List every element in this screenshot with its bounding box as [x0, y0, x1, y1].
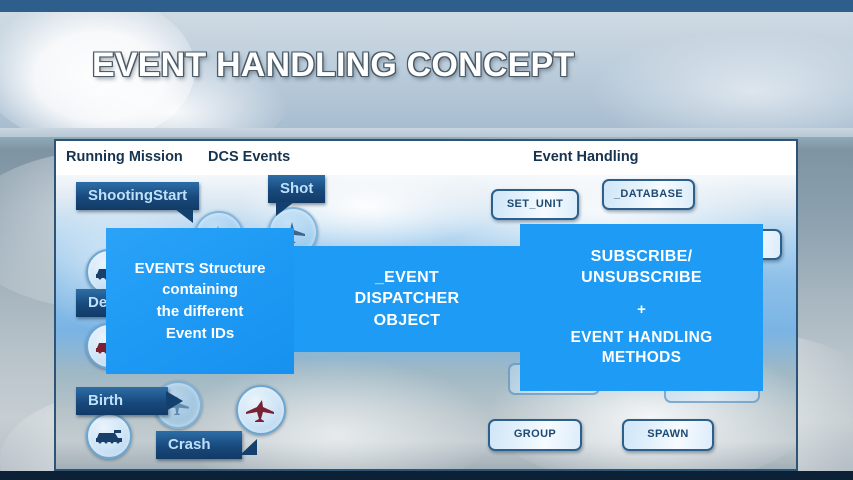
- event-tag-crash[interactable]: Crash: [156, 431, 242, 459]
- overlay-line: EVENTS Structure: [135, 258, 266, 280]
- class-box-label: _DATABASE: [614, 188, 683, 202]
- header-running-mission: Running Mission: [66, 149, 183, 165]
- overlay-line: Event IDs: [166, 323, 234, 345]
- overlay-line: OBJECT: [374, 310, 441, 332]
- slide-root: EVENT HANDLING CONCEPT Running Mission D…: [0, 0, 853, 480]
- class-box-set-unit[interactable]: SET_UNIT: [491, 189, 579, 220]
- overlay-event-dispatcher: _EVENT DISPATCHER OBJECT: [294, 246, 520, 352]
- event-tag-label: Birth: [88, 392, 123, 409]
- unit-icon-vehicle-3: [86, 413, 132, 459]
- overlay-plus-symbol: +: [637, 301, 646, 318]
- event-tag-shootingstart[interactable]: ShootingStart: [76, 182, 199, 210]
- aircraft-crash-silhouette-icon: [246, 398, 276, 422]
- overlay-line: METHODS: [602, 348, 682, 368]
- callout-tail-icon: [276, 202, 294, 216]
- overlay-line: containing: [162, 279, 238, 301]
- event-tag-label: ShootingStart: [88, 187, 187, 204]
- class-box-database[interactable]: _DATABASE: [602, 179, 695, 210]
- overlay-line: _EVENT: [375, 267, 439, 289]
- overlay-line: SUBSCRIBE/: [591, 247, 693, 268]
- event-tag-birth[interactable]: Birth: [76, 387, 168, 415]
- overlay-line: the different: [157, 301, 244, 323]
- class-box-group[interactable]: GROUP: [488, 419, 582, 451]
- overlay-line: EVENT HANDLING: [571, 328, 713, 348]
- event-tag-label: Shot: [280, 180, 313, 197]
- page-title: EVENT HANDLING CONCEPT: [92, 46, 574, 85]
- title-band-underline: [0, 128, 853, 137]
- callout-tail-icon: [240, 439, 257, 455]
- callout-tail-icon: [166, 391, 183, 411]
- unit-icon-aircraft-red-crash: [236, 385, 286, 435]
- overlay-line: DISPATCHER: [355, 288, 460, 310]
- event-tag-shot[interactable]: Shot: [268, 175, 325, 203]
- class-box-label: GROUP: [514, 428, 556, 442]
- overlay-event-handling: SUBSCRIBE/ UNSUBSCRIBE + EVENT HANDLING …: [520, 224, 763, 391]
- header-event-handling: Event Handling: [533, 149, 639, 165]
- header-dcs-events: DCS Events: [208, 149, 290, 165]
- bottom-strip: [0, 471, 853, 480]
- overlay-events-structure: EVENTS Structure containing the differen…: [106, 228, 294, 374]
- class-box-label: SPAWN: [647, 428, 689, 442]
- callout-tail-icon: [175, 209, 193, 223]
- overlay-line: UNSUBSCRIBE: [581, 268, 702, 289]
- class-box-spawn[interactable]: SPAWN: [622, 419, 714, 451]
- tank-silhouette-icon-2: [94, 427, 124, 445]
- event-tag-label: Crash: [168, 436, 211, 453]
- class-box-label: SET_UNIT: [507, 198, 563, 212]
